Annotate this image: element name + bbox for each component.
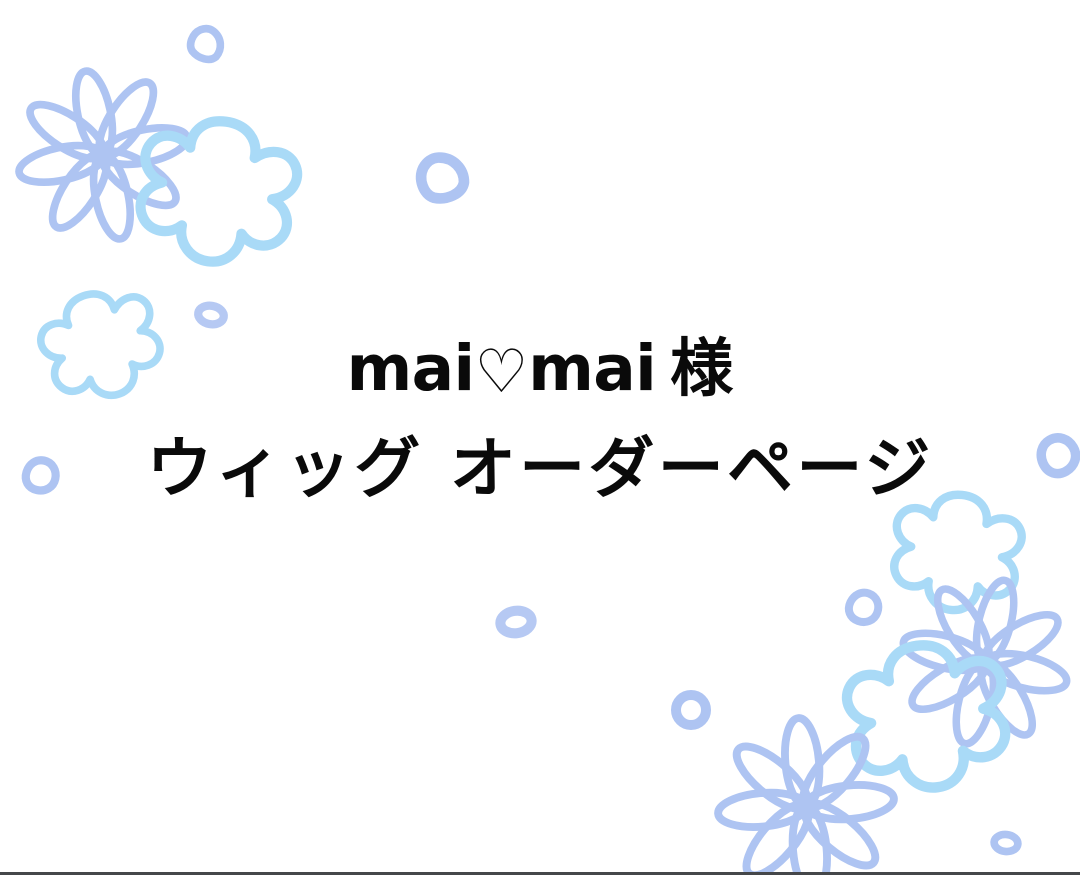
honorific-sama: 様	[670, 331, 733, 405]
dot-bottom-right	[993, 833, 1018, 852]
page-title: mai♡mai様 ウィッグ オーダーページ	[0, 336, 1080, 504]
dot-upper-center	[416, 152, 467, 203]
flower-blossom-right-upper	[889, 489, 1026, 617]
customer-name-first: mai	[347, 332, 475, 405]
dot-center-low	[499, 609, 533, 636]
flower-daisy-top-left	[1, 53, 204, 256]
dot-bottom-center	[676, 695, 706, 725]
customer-name-second: mai	[528, 332, 656, 405]
flower-daisy-right-mid	[883, 560, 1080, 764]
dot-mid-left-small	[197, 304, 226, 327]
heart-icon: ♡	[474, 337, 528, 407]
order-page-subtitle: ウィッグ オーダーページ	[0, 434, 1080, 504]
order-page-banner: mai♡mai様 ウィッグ オーダーページ	[0, 0, 1080, 875]
flower-daisy-bottom-center	[710, 710, 901, 875]
flower-blossom-right-lower	[841, 635, 1015, 798]
dot-right-mid	[845, 589, 882, 627]
flower-blossom-top-left	[132, 111, 303, 272]
dot-top-left	[186, 24, 226, 64]
customer-name-line: mai♡mai様	[0, 336, 1080, 401]
